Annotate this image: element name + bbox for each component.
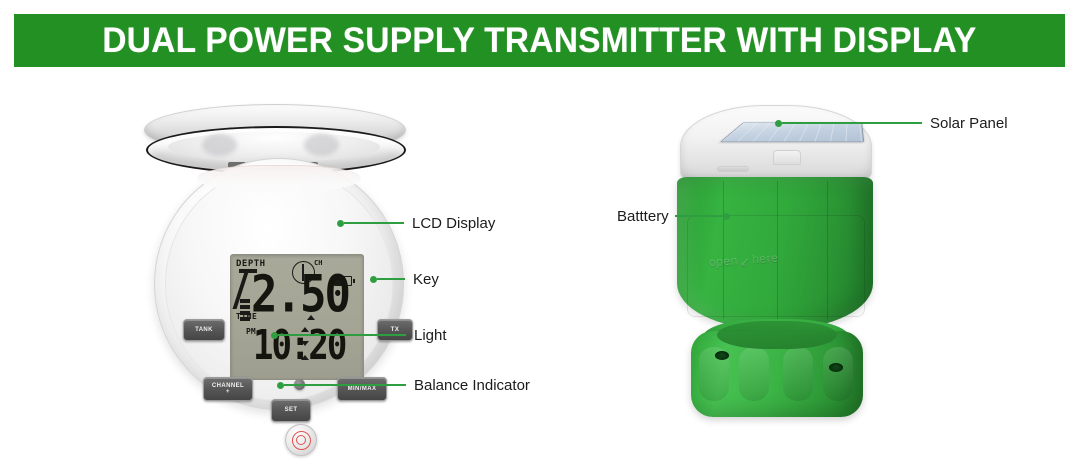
callout-battery: Batttery xyxy=(617,207,730,225)
nut-lobe-3 xyxy=(783,347,813,401)
lid-shadow-left xyxy=(202,134,237,156)
tank-button[interactable]: TANK xyxy=(183,319,225,341)
body-seam-1 xyxy=(723,181,724,319)
callout-dot-solar xyxy=(775,120,782,127)
right-device: open↙here xyxy=(655,105,905,435)
device-body: DEPTH CH 2.50 TIME PM 10:20 T xyxy=(154,158,404,410)
callout-dot-battery xyxy=(723,213,730,220)
callout-line-lcd xyxy=(344,222,404,224)
callout-label-balance-indicator: Balance Indicator xyxy=(414,377,530,394)
body-seam-3 xyxy=(827,181,828,319)
callout-solar-panel: Solar Panel xyxy=(775,114,1008,132)
set-button[interactable]: SET xyxy=(271,399,311,422)
lcd-arrow-up-1 xyxy=(307,315,315,320)
page-root: DUAL POWER SUPPLY TRANSMITTER WITH DISPL… xyxy=(0,0,1079,463)
callout-lcd-display: LCD Display xyxy=(337,214,495,232)
channel-button-plus: + xyxy=(226,389,230,395)
callout-label-battery: Batttery xyxy=(617,208,669,225)
lcd-arrow-up-3 xyxy=(301,355,309,360)
lcd-display[interactable]: DEPTH CH 2.50 TIME PM 10:20 xyxy=(230,254,364,380)
channel-button[interactable]: CHANNEL + xyxy=(203,377,253,401)
callout-line-solar xyxy=(782,122,922,124)
set-button-label: SET xyxy=(285,407,298,413)
page-banner: DUAL POWER SUPPLY TRANSMITTER WITH DISPL… xyxy=(14,14,1065,67)
device-body-top-band xyxy=(197,165,361,192)
left-device: DEPTH CH 2.50 TIME PM 10:20 T xyxy=(130,100,420,420)
callout-label-key: Key xyxy=(413,271,439,288)
open-here-open: open xyxy=(709,253,739,269)
nut-lobe-2 xyxy=(739,347,769,401)
callout-line-light xyxy=(278,334,406,336)
nut-hole-right xyxy=(829,363,843,372)
callout-balance-indicator: Balance Indicator xyxy=(277,376,530,394)
callout-dot-balance xyxy=(277,382,284,389)
down-arrow-icon: ↙ xyxy=(737,254,753,269)
cap-vent-slit xyxy=(717,166,749,172)
callout-line-battery xyxy=(675,215,723,217)
cap-tab xyxy=(773,150,801,165)
callout-dot-light xyxy=(271,332,278,339)
page-title: DUAL POWER SUPPLY TRANSMITTER WITH DISPL… xyxy=(102,21,976,61)
tank-button-label: TANK xyxy=(195,327,213,333)
balance-indicator xyxy=(285,424,317,456)
callout-label-light: Light xyxy=(414,327,447,344)
callout-light: Light xyxy=(271,326,447,344)
callout-line-key xyxy=(377,278,405,280)
device-lid xyxy=(144,104,404,166)
channel-button-label: CHANNEL xyxy=(212,383,244,389)
lcd-time-label: TIME xyxy=(236,312,257,321)
nut-top-shade xyxy=(717,321,837,349)
callout-line-balance xyxy=(284,384,406,386)
callout-label-lcd-display: LCD Display xyxy=(412,215,495,232)
callout-dot-key xyxy=(370,276,377,283)
nut-lobe-4 xyxy=(823,347,853,401)
callout-label-solar-panel: Solar Panel xyxy=(930,115,1008,132)
lid-shadow-right xyxy=(304,134,339,156)
callout-dot-lcd xyxy=(337,220,344,227)
callout-key: Key xyxy=(370,270,439,288)
open-here-here: here xyxy=(752,251,779,267)
nut-hole-left xyxy=(715,351,729,360)
